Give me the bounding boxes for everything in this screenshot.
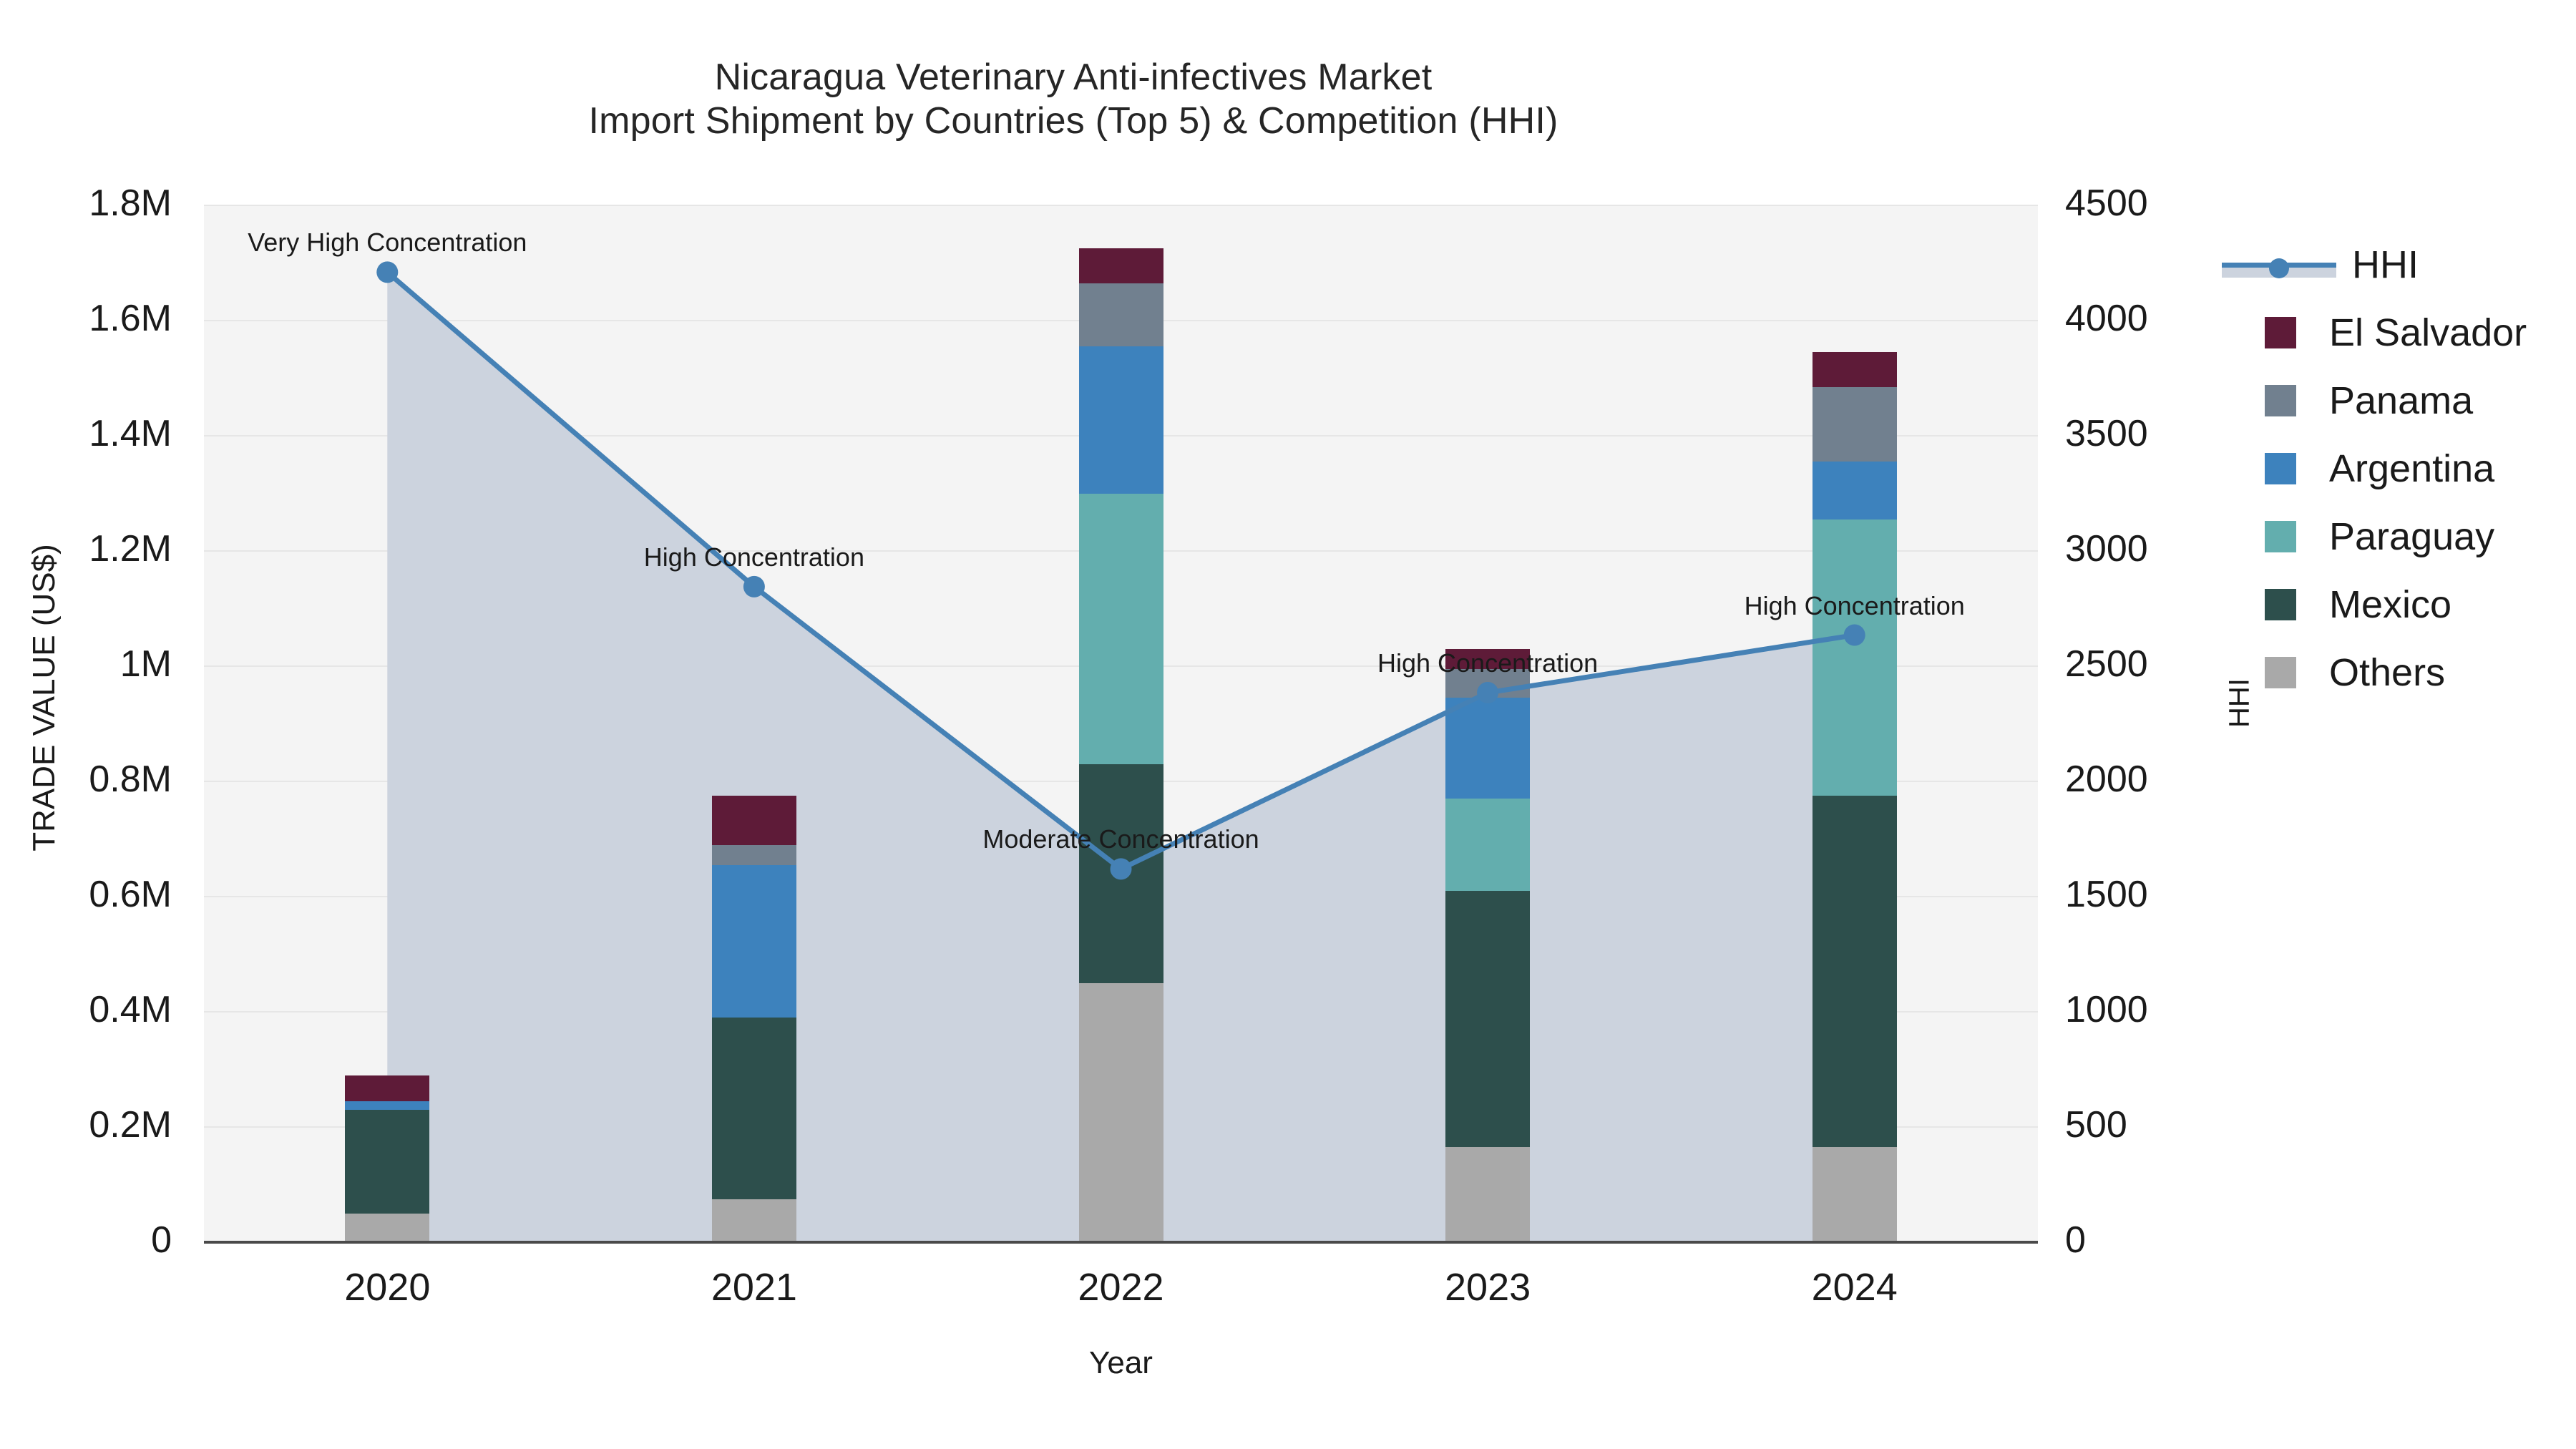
- y-axis-left-tick-label: 0.6M: [0, 873, 172, 916]
- chart-title: Nicaragua Veterinary Anti-infectives Mar…: [0, 56, 2147, 144]
- legend-swatch-icon: [2265, 453, 2296, 484]
- legend-swatch-icon: [2265, 317, 2296, 348]
- hhi-annotation-label: High Concentration: [1745, 591, 1965, 621]
- legend-line-icon: [2222, 249, 2336, 280]
- y-axis-right-tick-label: 1500: [2065, 873, 2148, 916]
- hhi-annotation-label: High Concentration: [644, 542, 864, 572]
- x-axis-tick-label: 2020: [244, 1265, 530, 1309]
- hhi-data-point[interactable]: [376, 261, 398, 283]
- legend-item[interactable]: Mexico: [2222, 570, 2565, 638]
- hhi-annotation-label: Very High Concentration: [248, 228, 527, 258]
- y-axis-right-tick-label: 0: [2065, 1219, 2086, 1262]
- y-axis-right-tick-label: 4000: [2065, 297, 2148, 340]
- y-axis-left-tick-label: 0.2M: [0, 1103, 172, 1146]
- hhi-data-point[interactable]: [743, 576, 765, 597]
- legend-swatch-icon: [2265, 385, 2296, 416]
- legend-item[interactable]: Argentina: [2222, 434, 2565, 502]
- legend: HHIEl SalvadorPanamaArgentinaParaguayMex…: [2222, 230, 2565, 706]
- legend-item[interactable]: HHI: [2222, 230, 2565, 298]
- legend-item-label: Mexico: [2329, 582, 2451, 627]
- legend-item-label: Panama: [2329, 379, 2473, 423]
- y-axis-right-tick-label: 3500: [2065, 412, 2148, 455]
- legend-item-label: Argentina: [2329, 447, 2494, 491]
- y-axis-right-tick-label: 1000: [2065, 988, 2148, 1031]
- x-axis-tick-label: 2021: [611, 1265, 897, 1309]
- hhi-annotation-label: Moderate Concentration: [982, 824, 1259, 854]
- hhi-data-point[interactable]: [1477, 682, 1498, 703]
- hhi-annotation-label: High Concentration: [1377, 648, 1598, 678]
- x-axis-title: Year: [204, 1345, 2038, 1381]
- y-axis-left-tick-label: 1M: [0, 643, 172, 686]
- legend-item[interactable]: Panama: [2222, 366, 2565, 434]
- y-axis-left-tick-label: 1.2M: [0, 527, 172, 570]
- x-axis-tick-label: 2023: [1345, 1265, 1631, 1309]
- y-axis-right-tick-label: 2000: [2065, 758, 2148, 801]
- hhi-data-point[interactable]: [1844, 625, 1865, 646]
- y-axis-left-tick-label: 0: [0, 1219, 172, 1262]
- legend-item-label: HHI: [2352, 243, 2419, 287]
- legend-item[interactable]: El Salvador: [2222, 298, 2565, 366]
- y-axis-left-tick-label: 0.4M: [0, 988, 172, 1031]
- y-axis-left-tick-label: 1.6M: [0, 297, 172, 340]
- legend-item[interactable]: Others: [2222, 638, 2565, 706]
- hhi-data-point[interactable]: [1111, 858, 1132, 879]
- legend-item-label: El Salvador: [2329, 311, 2527, 355]
- y-axis-left-tick-label: 0.8M: [0, 758, 172, 801]
- x-axis-tick-label: 2024: [1712, 1265, 1998, 1309]
- y-axis-right-tick-label: 2500: [2065, 643, 2148, 686]
- legend-swatch-icon: [2265, 521, 2296, 552]
- x-axis-tick-label: 2022: [978, 1265, 1264, 1309]
- legend-item-label: Paraguay: [2329, 514, 2494, 559]
- chart-title-line-2: Import Shipment by Countries (Top 5) & C…: [0, 99, 2147, 143]
- y-axis-left-tick-label: 1.4M: [0, 412, 172, 455]
- y-axis-right-tick-label: 500: [2065, 1103, 2127, 1146]
- chart-title-line-1: Nicaragua Veterinary Anti-infectives Mar…: [0, 56, 2147, 99]
- y-axis-right-tick-label: 3000: [2065, 527, 2148, 570]
- legend-item-label: Others: [2329, 650, 2445, 695]
- legend-item[interactable]: Paraguay: [2222, 502, 2565, 570]
- chart-root: Nicaragua Veterinary Anti-infectives Mar…: [0, 0, 2576, 1449]
- y-axis-left-title: TRADE VALUE (US$): [26, 426, 62, 970]
- legend-swatch-icon: [2265, 657, 2296, 688]
- hhi-line-path: [387, 272, 1854, 869]
- y-axis-right-tick-label: 4500: [2065, 182, 2148, 225]
- y-axis-left-tick-label: 1.8M: [0, 182, 172, 225]
- hhi-line-layer: [204, 205, 2038, 1242]
- plot-area: Very High ConcentrationHigh Concentratio…: [204, 205, 2038, 1242]
- legend-swatch-icon: [2265, 589, 2296, 620]
- x-axis-line: [204, 1241, 2038, 1244]
